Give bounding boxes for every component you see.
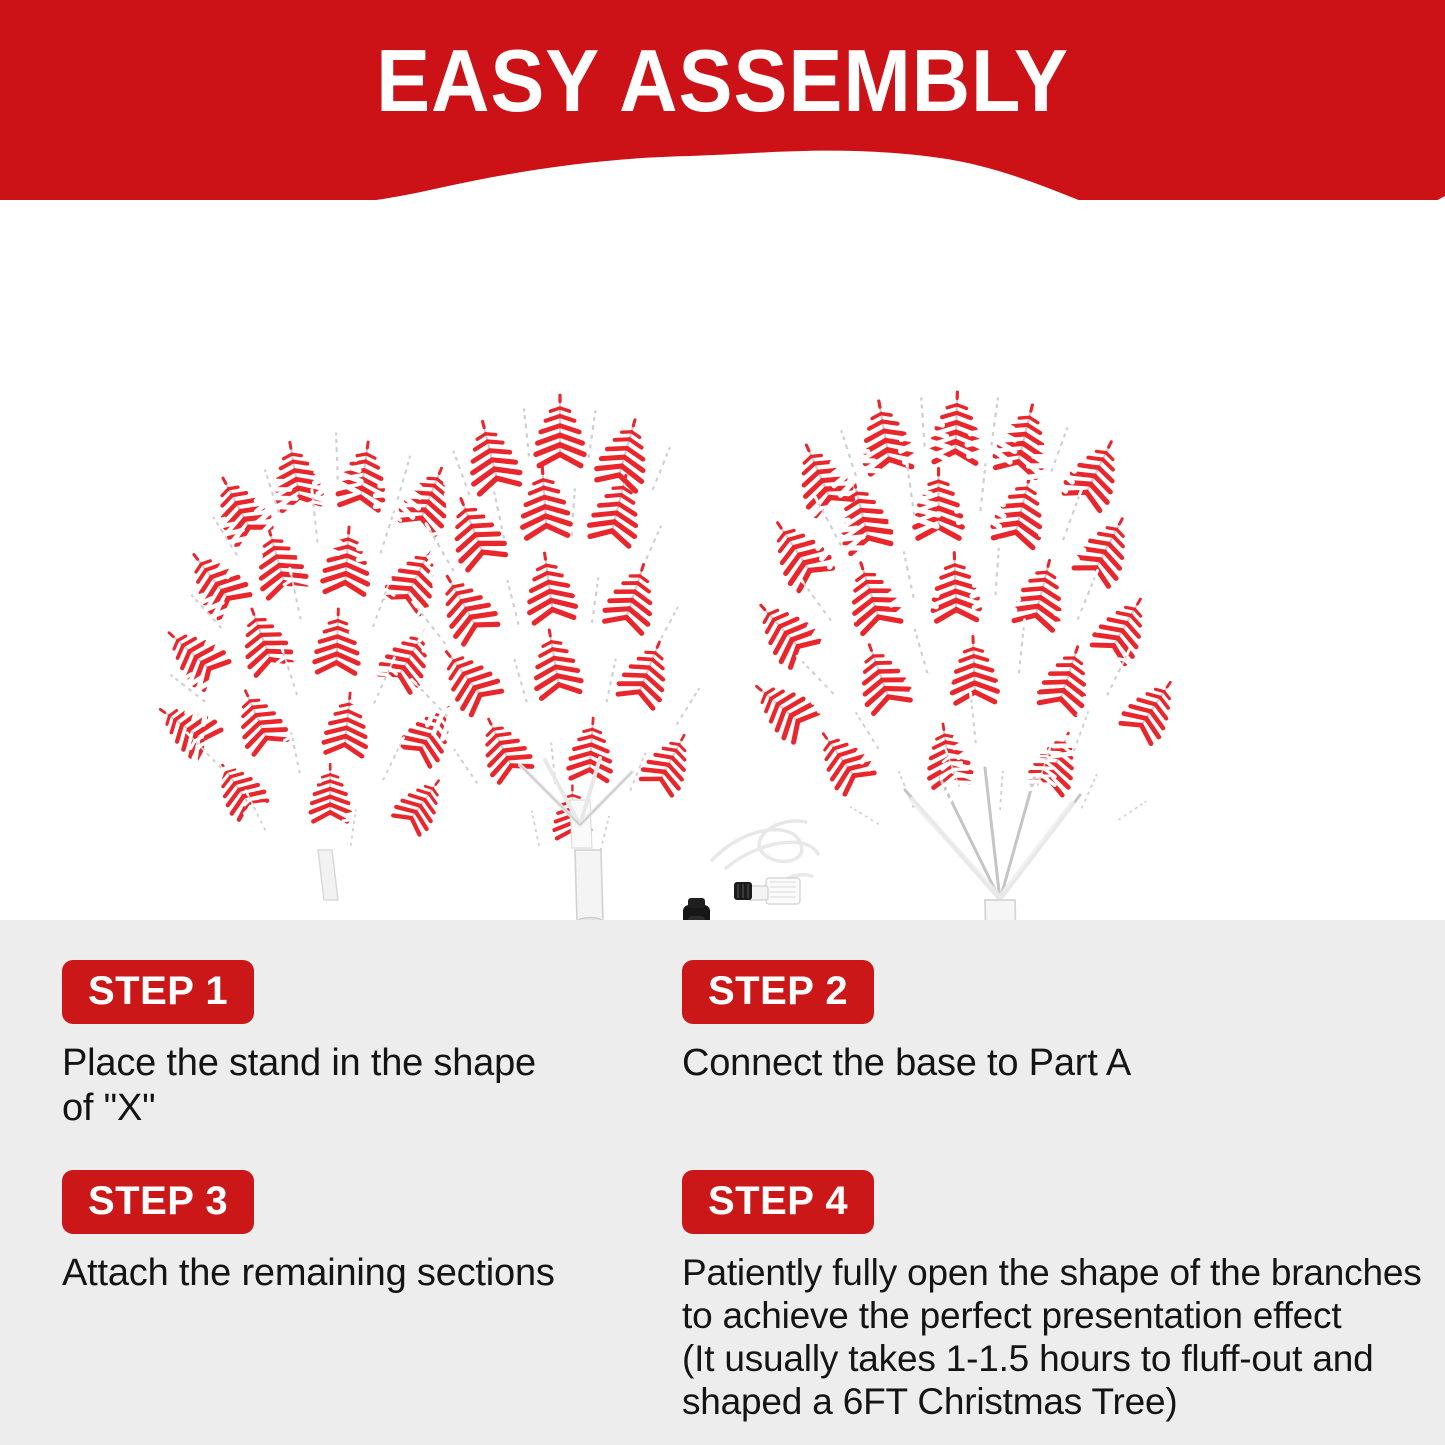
product-photo-illustration xyxy=(0,200,1445,920)
light-string xyxy=(712,821,818,892)
tree-section-middle xyxy=(395,395,721,920)
step-description-3: Attach the remaining sections xyxy=(62,1251,662,1296)
steps-grid: STEP 1 Place the stand in the shape of "… xyxy=(0,920,1445,1445)
step-badge-3: STEP 3 xyxy=(62,1170,254,1234)
step-badge-2: STEP 2 xyxy=(682,960,874,1024)
step-description-1: Place the stand in the shape of "X" xyxy=(62,1041,662,1131)
step-item-1: STEP 1 Place the stand in the shape of "… xyxy=(62,960,662,1131)
page-title: EASY ASSEMBLY xyxy=(58,34,1387,128)
steps-panel: STEP 1 Place the stand in the shape of "… xyxy=(0,920,1445,1445)
step-description-2: Connect the base to Part A xyxy=(682,1041,1402,1086)
light-string-end-cap xyxy=(734,882,752,900)
light-string-connector xyxy=(748,878,800,904)
tree-section-right xyxy=(742,386,1187,920)
step-badge-1: STEP 1 xyxy=(62,960,254,1024)
step-description-4: Patiently fully open the shape of the br… xyxy=(682,1251,1422,1423)
power-plug xyxy=(683,898,710,920)
product-photo xyxy=(0,200,1445,920)
step-item-3: STEP 3 Attach the remaining sections xyxy=(62,1170,662,1296)
step-item-2: STEP 2 Connect the base to Part A xyxy=(682,960,1402,1086)
step-badge-4: STEP 4 xyxy=(682,1170,874,1234)
step-item-4: STEP 4 Patiently fully open the shape of… xyxy=(682,1170,1422,1423)
tree-section-left xyxy=(148,424,465,900)
